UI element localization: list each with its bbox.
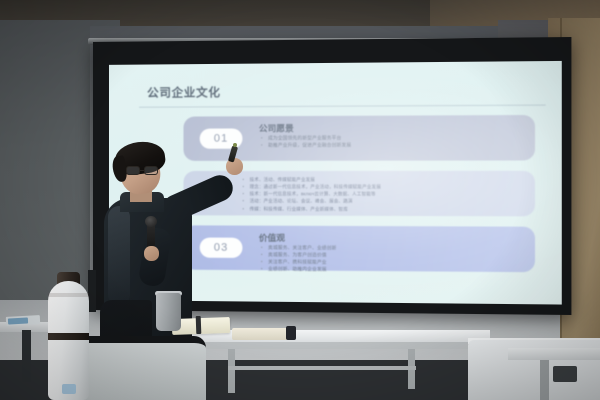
- jacket-highlight: [108, 206, 130, 306]
- block-bullets: •成为全国领先的新型产业服务平台 •助推产业升级，促进产业融合创新发展: [261, 134, 522, 149]
- chair-post: [22, 330, 31, 382]
- side-table-bracket: [553, 366, 577, 382]
- screen-frame-edge: [88, 270, 96, 312]
- bullet-item: •传媒：科技传媒、行业媒体、产业新媒体、智库: [242, 205, 524, 213]
- foreground-chair: [76, 336, 206, 400]
- side-table: [508, 348, 600, 360]
- title-divider: [139, 105, 546, 108]
- room-scene: 公司企业文化 01 公司愿景 •成为全国领先的新型产业服务平台 •助推产业升级，…: [0, 0, 600, 400]
- hand-holding-microphone: [144, 246, 159, 261]
- desk-crossbar: [228, 366, 416, 370]
- bullet-item: •业绩创新、助推内企业发展: [261, 265, 522, 274]
- thermos-ring: [48, 333, 89, 340]
- desk-leg: [228, 349, 235, 393]
- thermos-bottle: [48, 281, 89, 400]
- slide-title: 公司企业文化: [147, 84, 221, 101]
- book-spine: [196, 316, 202, 334]
- glasses-icon: [126, 166, 160, 175]
- thermos-band: [48, 293, 89, 297]
- bullet-item: •助推产业升级，促进产业融合创新发展: [261, 141, 522, 149]
- side-table-leg: [540, 360, 549, 400]
- microphone-head: [145, 216, 157, 227]
- block-heading: 价值观: [259, 232, 285, 244]
- metal-cup: [156, 293, 181, 331]
- thermos-label: [62, 384, 76, 394]
- notebook: [232, 328, 292, 340]
- laser-pointer-tip: [233, 143, 237, 147]
- block-bullets: •技术、活动、传媒赋能产业发展 •理念：通过新一代信息技术，产业活动，科技传媒赋…: [242, 176, 524, 213]
- blue-book: [8, 317, 28, 324]
- block-heading: 公司愿景: [259, 122, 294, 134]
- block-bullets: •奥城服务、关注客户、业绩创新 •奥城服务、为客户创造价值 •关注客户、携科技赋…: [261, 244, 522, 275]
- notebook-cover: [286, 326, 296, 340]
